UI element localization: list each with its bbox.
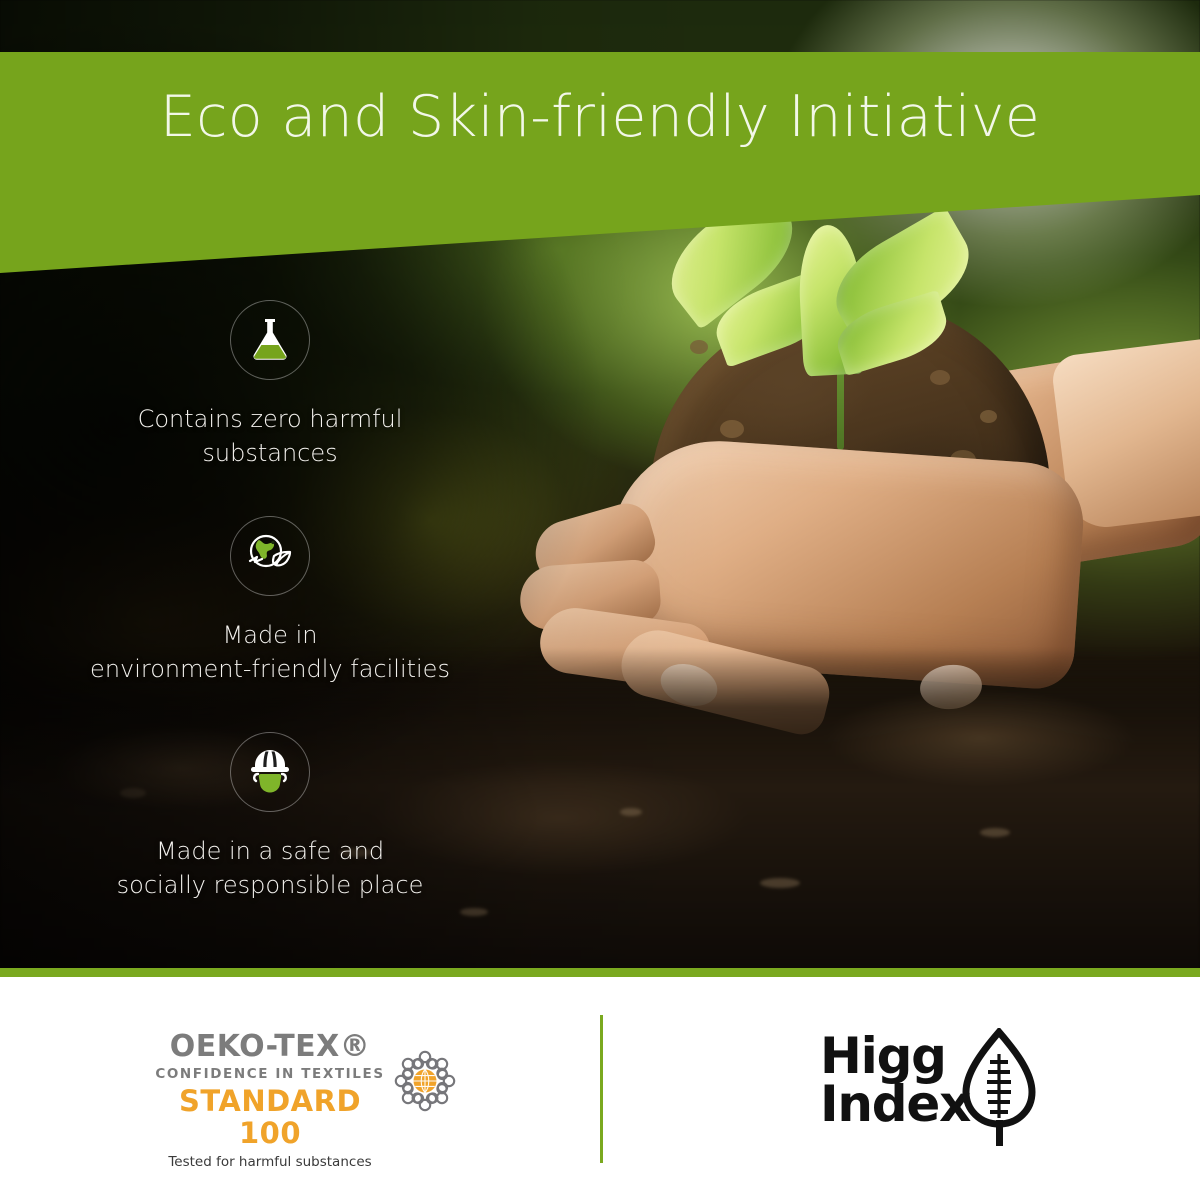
feature-label: Made in a safe and socially responsible … <box>80 834 460 902</box>
feature-item-safe-socially-responsible: Made in a safe and socially responsible … <box>80 732 460 902</box>
oeko-tex-name: OEKO-TEX® <box>150 1030 390 1063</box>
hardhat-mask-icon <box>230 732 310 812</box>
hero-photo: Eco and Skin-friendly Initiative Contain… <box>0 0 1200 978</box>
page-title: Eco and Skin-friendly Initiative <box>0 84 1200 150</box>
oeko-tex-logo: OEKO-TEX® CONFIDENCE IN TEXTILES STANDAR… <box>150 1030 480 1150</box>
feature-item-environment-friendly-facilities: Made in environment-friendly facilities <box>80 516 460 686</box>
oeko-tex-emblem-icon <box>386 1042 464 1120</box>
feature-item-zero-harmful-substances: Contains zero harmful substances <box>80 300 460 470</box>
oeko-tex-caption: Tested for harmful substances <box>150 1154 390 1170</box>
higg-index-logo: Higg Index <box>820 1032 1050 1150</box>
feature-list: Contains zero harmful substances <box>80 300 460 920</box>
flask-icon <box>230 300 310 380</box>
footer-vertical-divider <box>600 1015 603 1163</box>
eco-globe-leaf-icon <box>230 516 310 596</box>
higg-leaf-icon <box>958 1028 1040 1150</box>
green-divider-bar <box>0 968 1200 977</box>
oeko-tex-wordmark: OEKO-TEX® CONFIDENCE IN TEXTILES STANDAR… <box>150 1030 390 1170</box>
higg-index-wordmark: Higg Index <box>820 1032 970 1128</box>
feature-label: Made in environment-friendly facilities <box>80 618 460 686</box>
oeko-tex-tagline: CONFIDENCE IN TEXTILES <box>150 1066 390 1082</box>
oeko-tex-standard: STANDARD 100 <box>150 1086 390 1150</box>
higg-word: Higg <box>820 1032 970 1080</box>
eco-initiative-banner: Eco and Skin-friendly Initiative Contain… <box>0 0 1200 1200</box>
feature-label: Contains zero harmful substances <box>80 402 460 470</box>
index-word: Index <box>820 1080 970 1128</box>
